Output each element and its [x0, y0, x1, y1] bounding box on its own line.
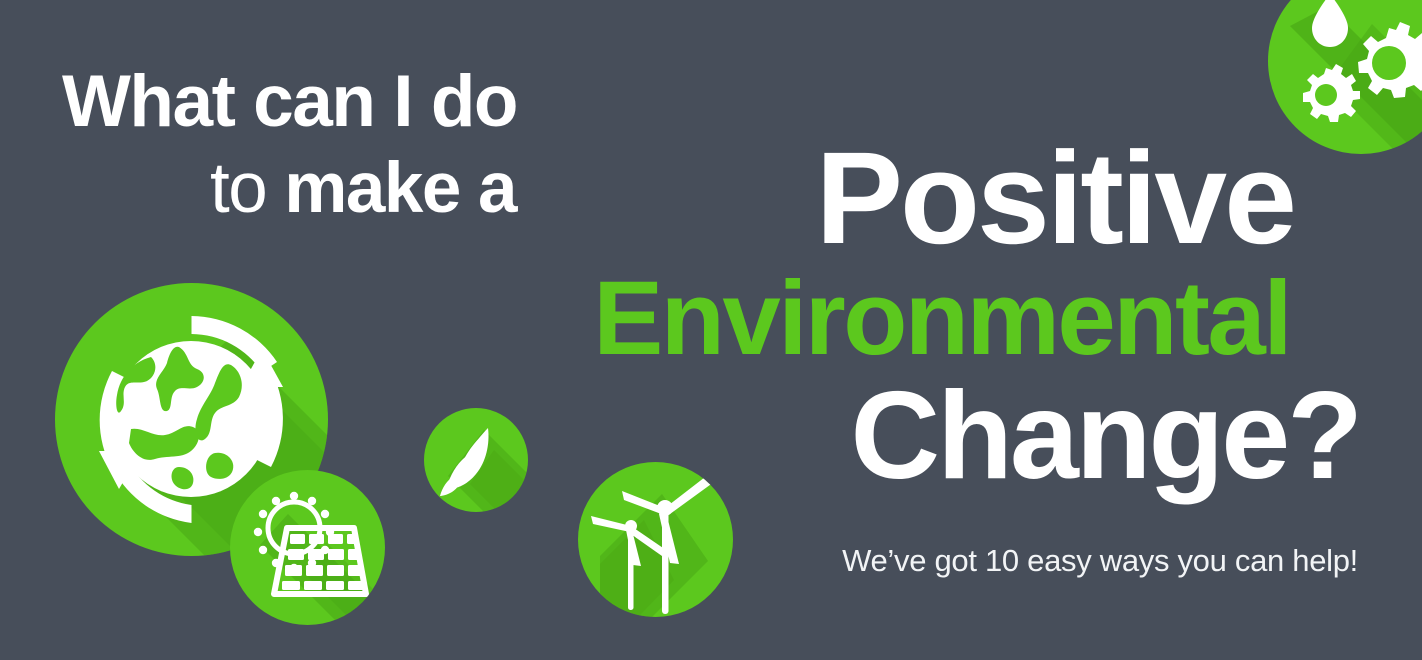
solar-panel-icon [230, 470, 385, 625]
headline-right-block: Positive Environmental Change? [593, 138, 1360, 498]
headline-line-2: tomake a [210, 154, 762, 224]
headline-word-change: Change? [593, 374, 1360, 498]
tagline: We’ve got 10 easy ways you can help! [842, 543, 1358, 579]
headline-left-block: What can I do tomake a [62, 66, 762, 223]
gears-droplet-icon [1268, 0, 1422, 154]
leaf-icon [424, 408, 528, 512]
headline-line-2-light: to [210, 149, 266, 228]
headline-word-environmental: Environmental [593, 265, 1290, 372]
headline-line-2-bold: make a [284, 149, 516, 228]
wind-turbine-icon [578, 462, 733, 617]
headline-line-1: What can I do [62, 66, 762, 138]
headline-word-positive: Positive [593, 138, 1294, 259]
banner-canvas: What can I do tomake a Positive Environm… [0, 0, 1422, 660]
